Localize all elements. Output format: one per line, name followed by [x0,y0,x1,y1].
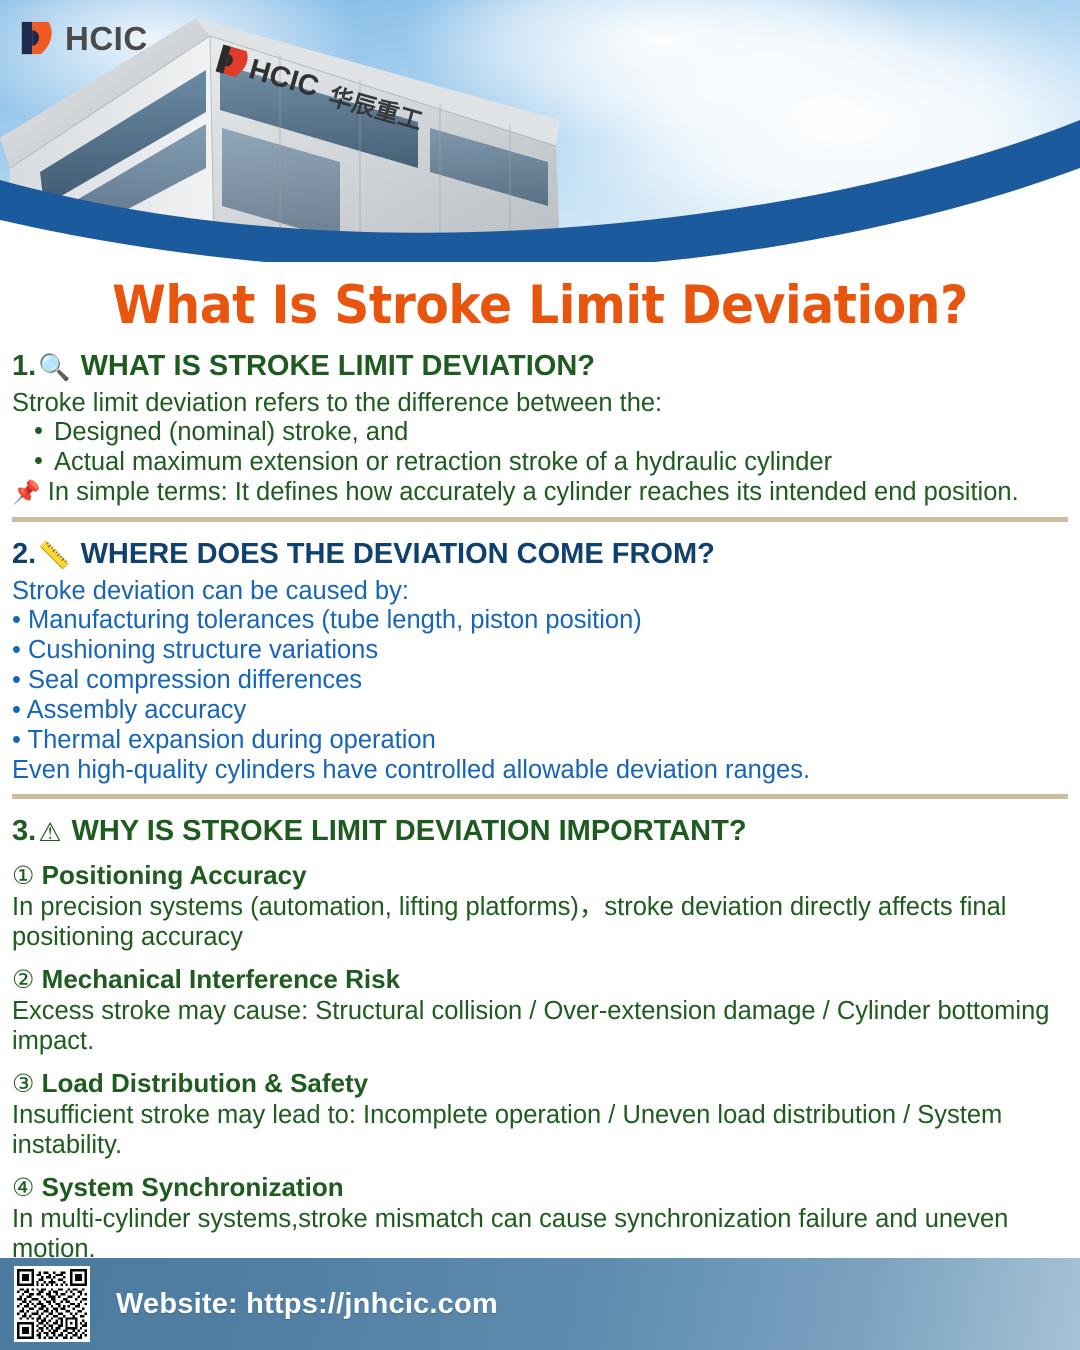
hcic-logo: HCIC [18,19,148,57]
item-title-text: System Synchronization [42,1172,344,1202]
logo-text: HCIC [65,22,148,55]
item-title: ① Positioning Accuracy [12,859,1068,893]
section-2-number: 2. [12,537,36,571]
list-item: • Thermal expansion during operation [12,726,1068,756]
section-1: 1.🔍WHAT IS STROKE LIMIT DEVIATION? Strok… [12,349,1068,508]
section-1-body: Stroke limit deviation refers to the dif… [12,389,1068,508]
list-item: • Manufacturing tolerances (tube length,… [12,606,1068,636]
magnifying-glass-icon: 🔍 [38,353,70,384]
section-3-item-3: ③ Load Distribution & Safety Insufficien… [12,1067,1068,1160]
section-3-item-1: ① Positioning Accuracy In precision syst… [12,859,1068,952]
footer-bar: Website: https://jnhcic.com [0,1258,1080,1350]
circled-number-2: ② [12,965,34,994]
section-3-heading: 3.⚠WHY IS STROKE LIMIT DEVIATION IMPORTA… [12,814,1068,848]
section-2-body: Stroke deviation can be caused by: • Man… [12,577,1068,785]
section-2-heading-text: WHERE DOES THE DEVIATION COME FROM? [81,537,715,571]
page-title: What Is Stroke Limit Deviation? [43,278,1037,334]
item-title-text: Positioning Accuracy [42,860,307,890]
blue-wave-band [0,102,1080,262]
section-1-intro: Stroke limit deviation refers to the dif… [12,389,1068,419]
website-label[interactable]: Website: https://jnhcic.com [116,1288,498,1321]
warning-triangle-icon: ⚠ [38,818,61,849]
content-body: 1.🔍WHAT IS STROKE LIMIT DEVIATION? Strok… [0,349,1080,1265]
divider-1 [12,517,1068,522]
item-body: Excess stroke may cause: Structural coll… [12,997,1068,1056]
list-item: • Cushioning structure variations [12,636,1068,666]
section-3-item-4: ④ System Synchronization In multi-cylind… [12,1171,1068,1264]
section-1-note: 📌 In simple terms: It defines how accura… [12,478,1068,508]
header-banner: HCIC 华辰重工 HCIC [0,0,1080,262]
qr-code-icon[interactable] [14,1266,90,1342]
list-item: • Seal compression differences [12,666,1068,696]
ruler-icon: 📏 [38,541,70,572]
list-item: Designed (nominal) stroke, and [54,418,1068,448]
section-1-bullet-list: Designed (nominal) stroke, and Actual ma… [12,418,1068,478]
item-title-text: Mechanical Interference Risk [42,964,400,994]
circled-number-4: ④ [12,1173,34,1202]
list-item: • Assembly accuracy [12,696,1068,726]
section-3-number: 3. [12,814,36,848]
hcic-logo-mark-icon [18,19,56,57]
section-1-heading: 1.🔍WHAT IS STROKE LIMIT DEVIATION? [12,349,1068,383]
section-2-intro: Stroke deviation can be caused by: [12,577,1068,607]
item-title: ④ System Synchronization [12,1171,1068,1205]
item-title-text: Load Distribution & Safety [42,1068,368,1098]
section-3-item-2: ② Mechanical Interference Risk Excess st… [12,963,1068,1056]
section-1-note-text: In simple terms: It defines how accurate… [48,478,1019,506]
list-item: Actual maximum extension or retraction s… [54,448,1068,478]
section-3-heading-text: WHY IS STROKE LIMIT DEVIATION IMPORTANT? [72,814,747,848]
section-1-number: 1. [12,349,36,383]
item-body: In precision systems (automation, liftin… [12,893,1068,952]
section-3: 3.⚠WHY IS STROKE LIMIT DEVIATION IMPORTA… [12,814,1068,1264]
section-1-heading-text: WHAT IS STROKE LIMIT DEVIATION? [81,349,595,383]
item-body: Insufficient stroke may lead to: Incompl… [12,1101,1068,1160]
pushpin-icon: 📌 [12,480,41,506]
qr-code-svg [17,1269,87,1339]
circled-number-1: ① [12,861,34,890]
section-2: 2.📏WHERE DOES THE DEVIATION COME FROM? S… [12,537,1068,786]
divider-2 [12,794,1068,799]
item-title: ② Mechanical Interference Risk [12,963,1068,997]
circled-number-3: ③ [12,1069,34,1098]
section-2-closing: Even high-quality cylinders have control… [12,756,1068,786]
item-body: In multi-cylinder systems,stroke mismatc… [12,1205,1068,1264]
item-title: ③ Load Distribution & Safety [12,1067,1068,1101]
section-2-heading: 2.📏WHERE DOES THE DEVIATION COME FROM? [12,537,1068,571]
